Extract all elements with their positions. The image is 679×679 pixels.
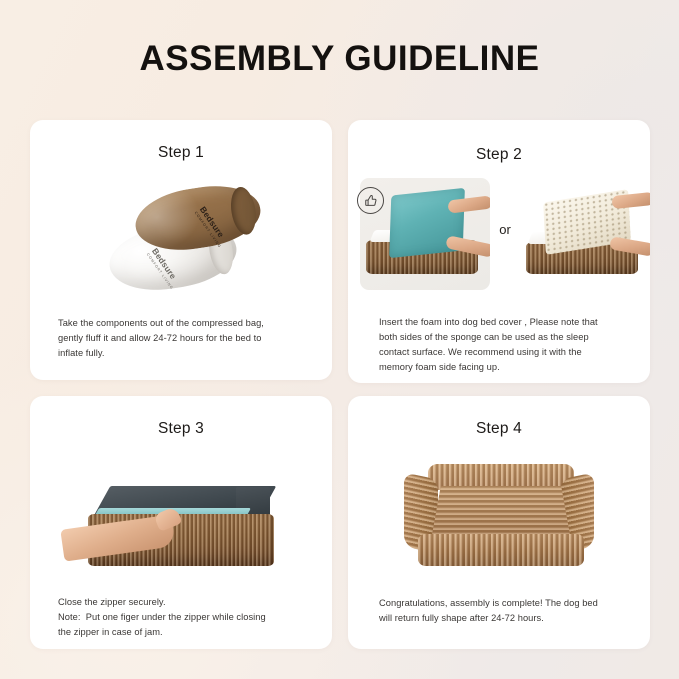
- step-2-title: Step 2: [348, 146, 650, 164]
- foam-insert-illustration: or: [348, 178, 650, 300]
- step-2-caption-line-3: contact surface. We recommend using it w…: [379, 345, 632, 360]
- front-bolster-ribs: [418, 534, 584, 566]
- step-2-caption-line-1: Insert the foam into dog bed cover , Ple…: [379, 315, 632, 330]
- step-4-caption-line-2: will return fully shape after 24-72 hour…: [379, 611, 630, 626]
- step-card-1: Step 1 Bedsure COMFORT LIVING Bedsure CO…: [30, 120, 332, 380]
- step-card-3: Step 3 Close the zipper securely. Note: …: [30, 396, 332, 649]
- step-1-caption-line-3: inflate fully.: [58, 346, 310, 361]
- step-card-4: Step 4 Congratulat: [348, 396, 650, 649]
- step-card-2: Step 2 or: [348, 120, 650, 383]
- step-2-caption-line-4: memory foam side facing up.: [379, 360, 632, 375]
- step-1-caption: Take the components out of the compresse…: [58, 316, 310, 361]
- assembly-guideline-page: ASSEMBLY GUIDELINE Step 1 Bedsure COMFOR…: [0, 0, 679, 679]
- seat-cushion-ribs: [431, 486, 571, 540]
- step-3-caption: Close the zipper securely. Note: Put one…: [58, 595, 310, 640]
- bed-seat-cushion: [431, 486, 571, 540]
- step-1-title: Step 1: [30, 144, 332, 162]
- dog-bed-shape: [404, 458, 594, 580]
- step-3-caption-line-1: Close the zipper securely.: [58, 595, 310, 610]
- step-2-caption: Insert the foam into dog bed cover , Ple…: [379, 315, 632, 375]
- page-title: ASSEMBLY GUIDELINE: [0, 39, 679, 79]
- step-1-caption-line-2: gently fluff it and allow 24-72 hours fo…: [58, 331, 310, 346]
- step-3-title: Step 3: [30, 420, 332, 438]
- bed-front-bolster: [418, 534, 584, 566]
- step-3-caption-line-2: Note: Put one figer under the zipper whi…: [58, 610, 310, 625]
- white-bag-label: Bedsure COMFORT LIVING: [146, 246, 183, 290]
- step-2-caption-line-2: both sides of the sponge can be used as …: [379, 330, 632, 345]
- step-4-caption: Congratulations, assembly is complete! T…: [379, 596, 630, 626]
- step-3-caption-line-3: the zipper in case of jam.: [58, 625, 310, 640]
- zipper-closing-illustration: [30, 452, 332, 592]
- egg-crate-foam-panel: [520, 178, 650, 290]
- step-1-caption-line-1: Take the components out of the compresse…: [58, 316, 310, 331]
- finished-dog-bed-illustration: [348, 452, 650, 592]
- step-4-title: Step 4: [348, 420, 650, 438]
- or-separator-label: or: [490, 222, 520, 237]
- thumbs-up-icon: [357, 187, 384, 214]
- brown-bag-label: Bedsure COMFORT LIVING: [194, 205, 231, 249]
- compressed-bags-illustration: Bedsure COMFORT LIVING Bedsure COMFORT L…: [30, 174, 332, 312]
- step-4-caption-line-1: Congratulations, assembly is complete! T…: [379, 596, 630, 611]
